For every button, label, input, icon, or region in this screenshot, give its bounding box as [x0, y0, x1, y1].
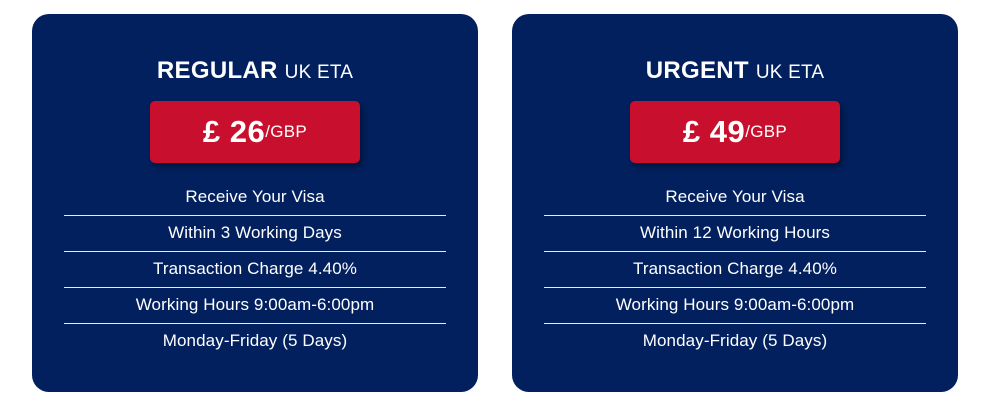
- feature-item: Within 12 Working Hours: [544, 215, 926, 251]
- price-amount: £ 26: [203, 114, 265, 150]
- pricing-card-regular[interactable]: REGULARUK ETA £ 26/GBP Receive Your Visa…: [32, 14, 478, 392]
- feature-item: Monday-Friday (5 Days): [544, 323, 926, 359]
- plan-title-sub: UK ETA: [285, 62, 353, 83]
- feature-list: Receive Your Visa Within 3 Working Days …: [32, 179, 478, 359]
- price-currency: /GBP: [745, 122, 787, 142]
- plan-title-main: REGULAR: [157, 57, 278, 84]
- plan-title: REGULARUK ETA: [157, 56, 353, 86]
- feature-item: Working Hours 9:00am-6:00pm: [64, 287, 446, 323]
- feature-item: Transaction Charge 4.40%: [64, 251, 446, 287]
- feature-list: Receive Your Visa Within 12 Working Hour…: [512, 179, 958, 359]
- feature-item: Monday-Friday (5 Days): [64, 323, 446, 359]
- pricing-card-urgent[interactable]: URGENTUK ETA £ 49/GBP Receive Your Visa …: [512, 14, 958, 392]
- plan-title-main: URGENT: [646, 57, 749, 84]
- feature-item: Receive Your Visa: [64, 179, 446, 215]
- feature-item: Within 3 Working Days: [64, 215, 446, 251]
- price-amount: £ 49: [683, 114, 745, 150]
- plan-title: URGENTUK ETA: [646, 56, 825, 86]
- plan-title-sub: UK ETA: [756, 62, 824, 83]
- feature-item: Receive Your Visa: [544, 179, 926, 215]
- price-currency: /GBP: [265, 122, 307, 142]
- price-badge[interactable]: £ 26/GBP: [150, 101, 360, 163]
- feature-item: Working Hours 9:00am-6:00pm: [544, 287, 926, 323]
- feature-item: Transaction Charge 4.40%: [544, 251, 926, 287]
- pricing-plans-container: REGULARUK ETA £ 26/GBP Receive Your Visa…: [0, 0, 989, 409]
- price-badge[interactable]: £ 49/GBP: [630, 101, 840, 163]
